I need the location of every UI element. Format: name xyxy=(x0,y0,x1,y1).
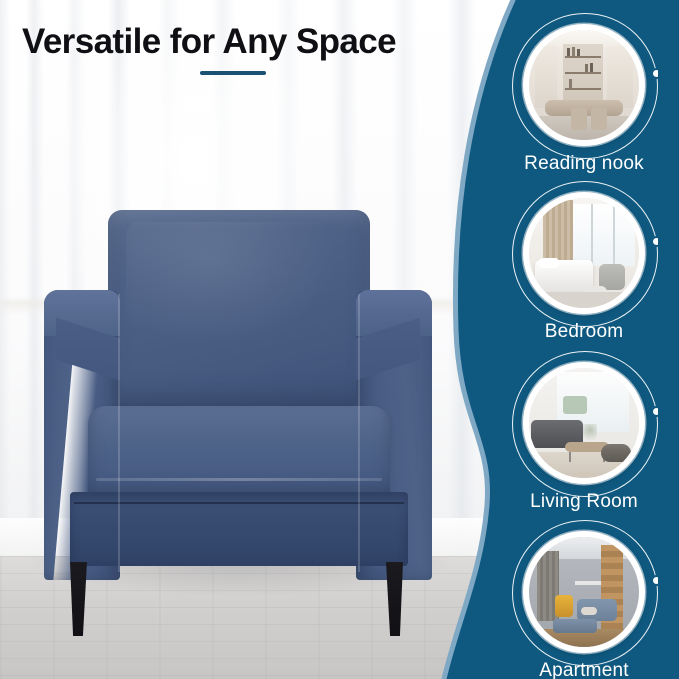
armchair-base-seam xyxy=(74,502,404,504)
use-case-label: Apartment xyxy=(489,660,679,679)
reading-nook-circle xyxy=(512,25,656,145)
armchair-front-left-leg xyxy=(70,562,87,636)
apartment-circle xyxy=(512,532,656,652)
bedroom-circle xyxy=(512,193,656,313)
arc-dot-icon xyxy=(653,577,660,584)
use-case-label: Living Room xyxy=(489,491,679,513)
title-underline-accent xyxy=(200,71,266,75)
bedroom-photo xyxy=(529,198,639,308)
use-case-tile-apartment[interactable]: Apartment xyxy=(489,532,679,679)
use-case-label: Reading nook xyxy=(489,153,679,175)
living-room-circle xyxy=(512,363,656,483)
armchair-seat-seam xyxy=(96,478,382,481)
apartment-photo xyxy=(529,537,639,647)
product-scene xyxy=(0,0,520,679)
promo-image: Versatile for Any Space xyxy=(0,0,679,679)
reading-nook-photo xyxy=(529,30,639,140)
use-case-tile-living-room[interactable]: Living Room xyxy=(489,363,679,533)
armchair-right-welt xyxy=(358,294,360,572)
page-title: Versatile for Any Space xyxy=(22,22,472,62)
arc-dot-icon xyxy=(653,408,660,415)
living-room-photo xyxy=(529,368,639,478)
use-case-list: Reading nook xyxy=(489,0,679,679)
use-case-tile-reading-nook[interactable]: Reading nook xyxy=(489,25,679,195)
use-case-tile-bedroom[interactable]: Bedroom xyxy=(489,193,679,363)
arc-dot-icon xyxy=(653,70,660,77)
armchair-seat-cushion xyxy=(88,406,390,498)
arc-dot-icon xyxy=(653,238,660,245)
armchair-left-welt xyxy=(118,294,120,572)
armchair-back-highlight xyxy=(126,222,336,342)
armchair-front-right-leg xyxy=(386,562,403,636)
armchair xyxy=(30,210,440,630)
use-case-label: Bedroom xyxy=(489,321,679,343)
